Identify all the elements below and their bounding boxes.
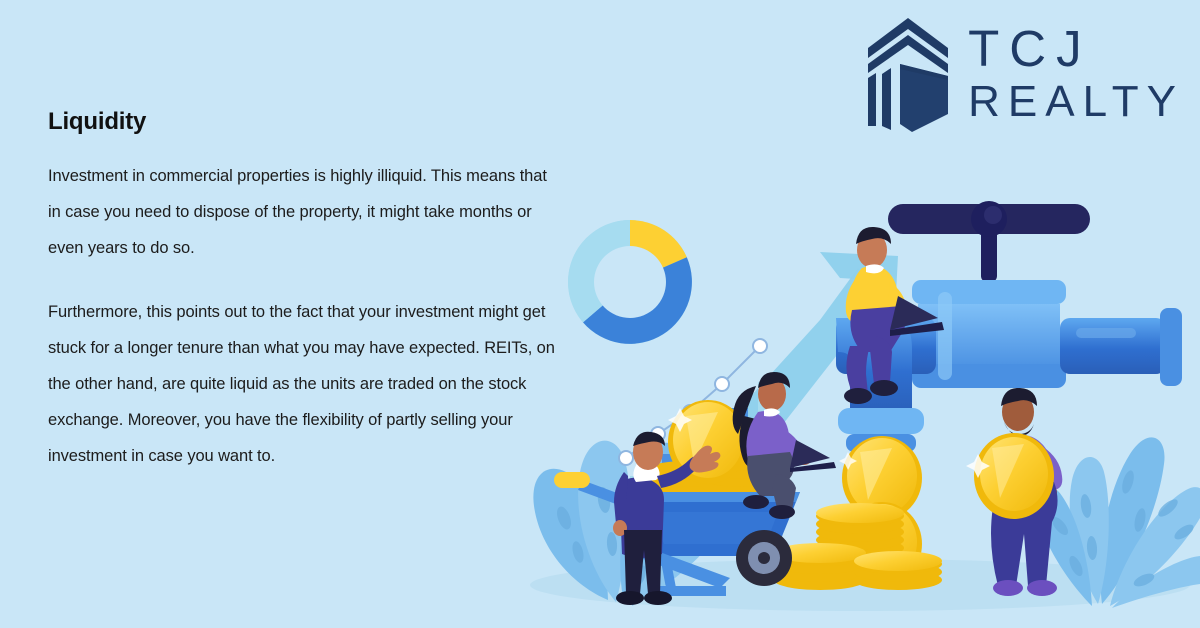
- brand-logo: TCJ REALTY: [862, 14, 1184, 132]
- person-on-wheelbarrow-with-laptop: [733, 372, 836, 519]
- article-paragraph-1: Investment in commercial properties is h…: [48, 158, 558, 266]
- article-paragraph-2: Furthermore, this points out to the fact…: [48, 294, 558, 474]
- brand-name-line-1: TCJ: [968, 23, 1091, 74]
- article-text-column: Liquidity Investment in commercial prope…: [48, 108, 558, 474]
- donut-chart: [568, 220, 692, 344]
- financial-liquidity-illustration: [520, 200, 1200, 628]
- brand-name-line-2: REALTY: [968, 80, 1184, 124]
- page-title: Liquidity: [48, 108, 558, 136]
- building-shield-logo-icon: [862, 14, 954, 132]
- brand-wordmark: TCJ REALTY: [968, 23, 1184, 124]
